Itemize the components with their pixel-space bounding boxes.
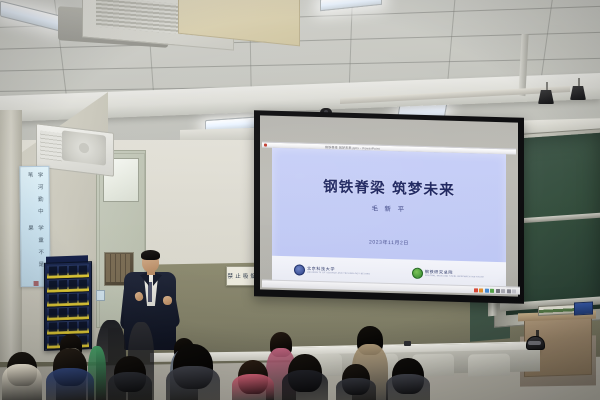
presenter-hand-right: [163, 296, 172, 305]
banner-text-right: 学 河 勤 中 苇: [24, 172, 45, 225]
audience-head-6-body: [282, 370, 328, 400]
university-logo-left: 北京科技大学 UNIVERSITY OF SCIENCE AND TECHNOL…: [294, 264, 370, 277]
taskbar-icon-7[interactable]: [507, 289, 511, 293]
audience-head-5-body: [232, 374, 274, 400]
taskbar-icon-2[interactable]: [479, 288, 483, 292]
audience-head-1-body: [2, 364, 42, 400]
lecture-hall-photo: 学 河 勤 中 苇 学 重 不 是 果: [0, 0, 600, 400]
banner-text-left: 学 重 不 是 果: [25, 225, 46, 278]
audience-head-7-body: [336, 378, 376, 400]
presentation-slide: 钢铁脊梁 筑梦未来 毛 新 平 2023年11月2日 北京科技大学 UNIVER…: [272, 148, 506, 289]
powerpoint-icon: [264, 144, 267, 147]
helmet-visor: [528, 341, 541, 345]
wall-switch-plate: [96, 290, 105, 301]
books-on-desk: [538, 304, 578, 316]
taskbar-icon-8[interactable]: [512, 289, 516, 293]
presenter-hair: [141, 250, 160, 260]
slide-title: 钢铁脊梁 筑梦未来: [272, 174, 506, 202]
taskbar-icon-5[interactable]: [496, 288, 500, 292]
audience-head-3-body: [108, 372, 152, 400]
wall-notice-sign-text: 禁 止 吸 烟: [228, 272, 257, 280]
taskbar-icon-3[interactable]: [485, 288, 489, 292]
audience-head-4-body: [166, 366, 220, 400]
university-logo-en: UNIVERSITY OF SCIENCE AND TECHNOLOGY BEI…: [307, 271, 370, 275]
slide-author: 毛 新 平: [272, 200, 506, 217]
banner-seal: [33, 281, 38, 286]
institute-logo-right: 钢铁研究总院 CENTRAL IRON AND STEEL RESEARCH I…: [412, 267, 484, 280]
audience-head-8-body: [386, 374, 430, 400]
slide-date: 2023年11月2日: [272, 236, 506, 250]
taskbar-icon-1[interactable]: [474, 288, 478, 292]
university-seal-icon: [294, 264, 305, 275]
audience-head-2-body: [46, 368, 94, 400]
taskbar-icon-4[interactable]: [490, 288, 494, 292]
ac-fan: [62, 130, 106, 165]
bench-seat: [468, 354, 510, 377]
blue-book: [574, 302, 593, 316]
wall-pillar: [0, 110, 22, 362]
ac-louvers: [40, 131, 62, 162]
institute-logo-en: CENTRAL IRON AND STEEL RESEARCH INSTITUT…: [425, 275, 484, 279]
taskbar-icon-6[interactable]: [501, 289, 505, 293]
desk-object: [404, 341, 411, 346]
institute-seal-icon: [412, 267, 423, 278]
